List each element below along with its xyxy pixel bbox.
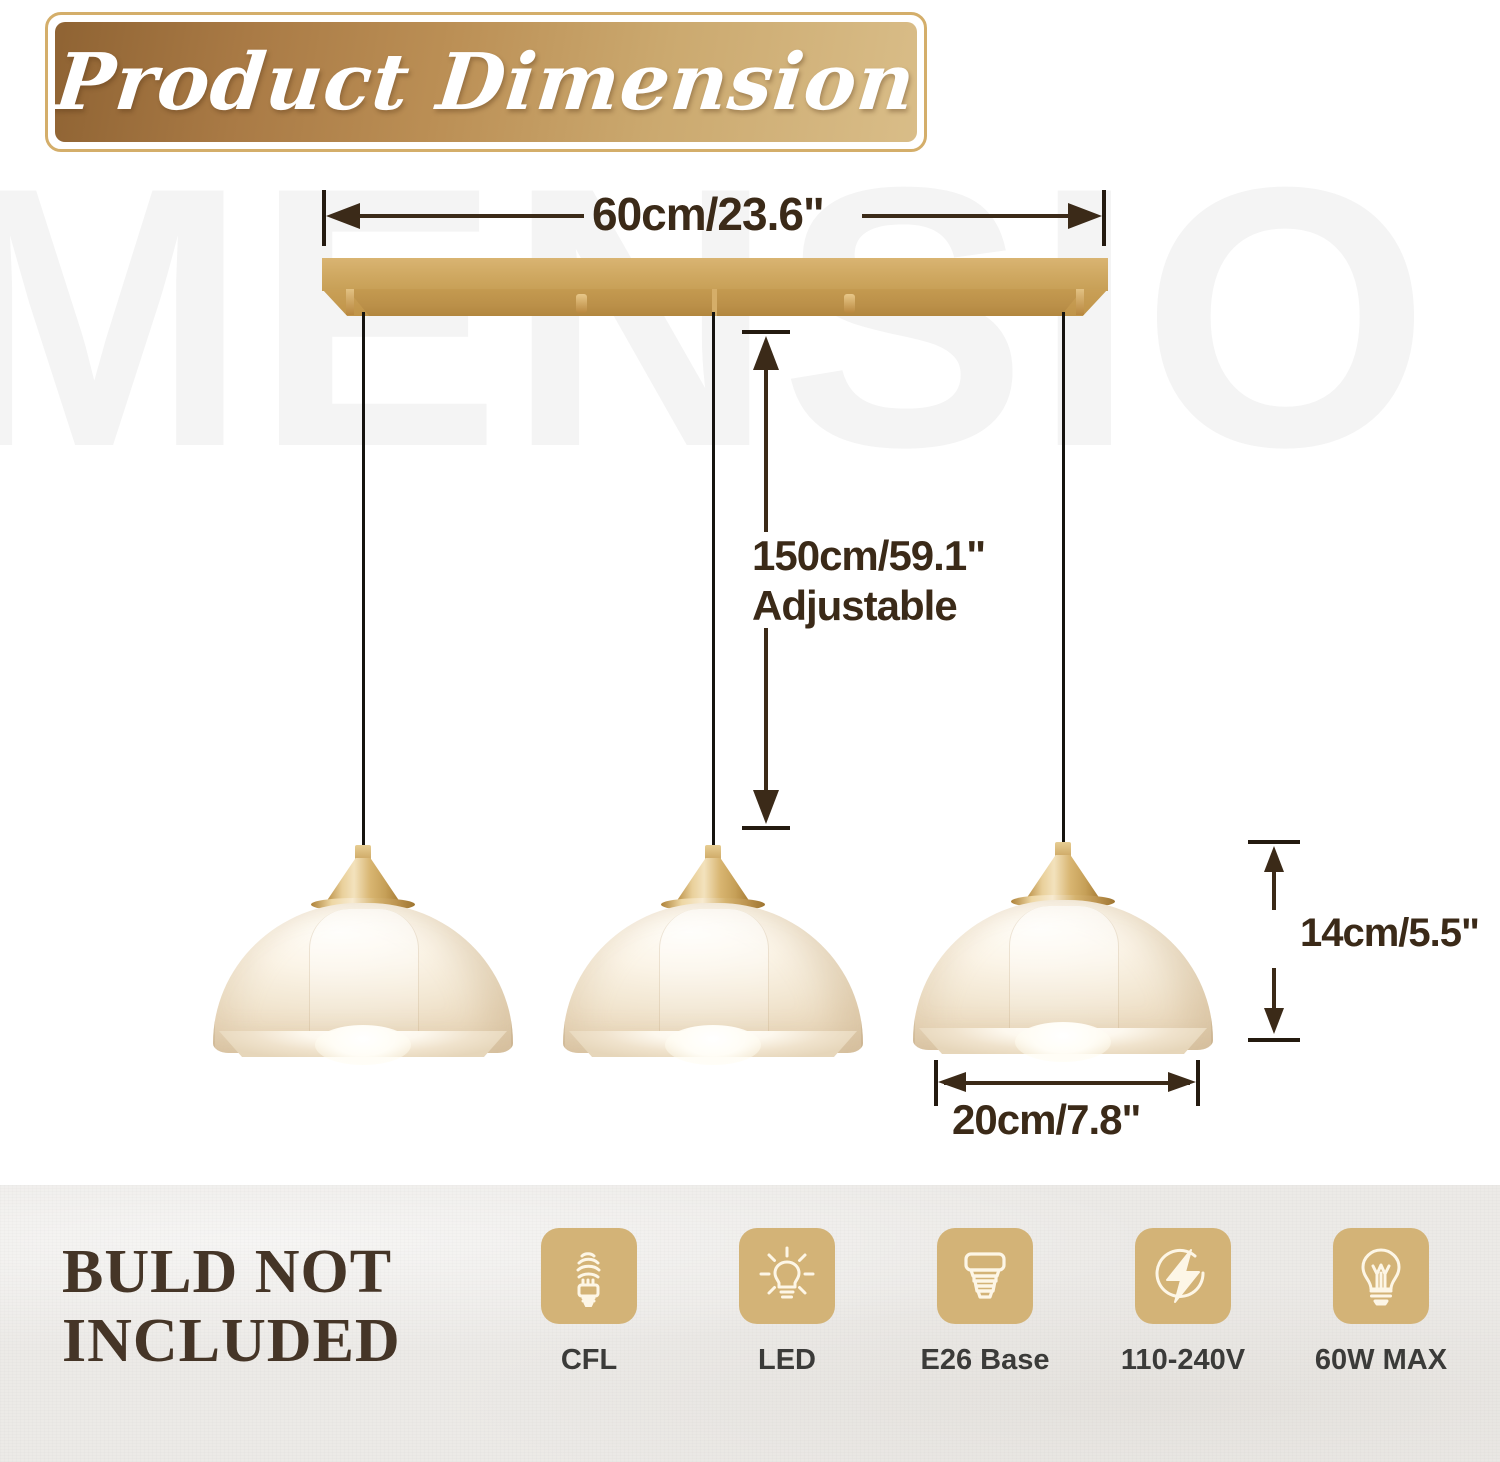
spec-item-wattage: 60W MAX [1282,1228,1480,1428]
title-banner-fill: Product Dimension [55,22,917,142]
canopy-screw-left [576,294,587,313]
canopy-end-clip-left [346,289,354,315]
shade-width-line [944,1081,1190,1085]
lamp-neck [1026,855,1100,899]
lamp-bulb-glow [1015,1022,1111,1062]
height-dim-tick-bottom [1248,1038,1300,1042]
shade-width-tick-right [1196,1060,1200,1106]
title-banner: Product Dimension [45,12,927,152]
height-dim-tick-top [1248,840,1300,844]
spec-label-cfl: CFL [561,1344,617,1377]
cord-right [1062,312,1065,857]
bulb-not-included-text: BULD NOT INCLUDED [62,1238,401,1377]
e26-base-icon [937,1228,1033,1324]
spec-item-cfl: CFL [490,1228,688,1428]
width-dim-line-right [862,214,1090,218]
page-title: Product Dimension [55,37,917,128]
cord-left [362,312,365,860]
spec-label-e26: E26 Base [921,1344,1050,1377]
lightning-bolt-icon [1135,1228,1231,1324]
shade-width-arrow-right [1168,1072,1196,1092]
height-dim-arrow-up [1264,846,1284,872]
cord-center [712,312,715,860]
drop-dim-tick-top [742,330,790,334]
canopy-bar [322,258,1108,316]
shade-width-arrow-left [938,1072,966,1092]
canopy-screw-right [844,294,855,313]
shade-height-label: 14cm/5.5" [1300,912,1479,954]
drop-dim-line-upper [764,348,768,532]
drop-dim-tick-bottom [742,826,790,830]
width-dim-tick-right [1102,190,1106,246]
spec-item-voltage: 110-240V [1084,1228,1282,1428]
drop-dim-line-lower [764,628,768,804]
spec-label-voltage: 110-240V [1121,1344,1245,1377]
background-watermark: MENSIO [0,105,1436,530]
canopy-end-clip-right [1076,289,1084,315]
spec-item-e26: E26 Base [886,1228,1084,1428]
cfl-bulb-icon [541,1228,637,1324]
spec-label-led: LED [758,1344,816,1377]
spec-label-wattage: 60W MAX [1315,1344,1447,1377]
shade-width-label: 20cm/7.8" [952,1098,1140,1143]
width-dim-arrow-right [1068,203,1102,229]
width-dim-line-left [334,214,584,218]
lamp-bulb-glow [315,1025,411,1065]
spec-item-led: LED [688,1228,886,1428]
lamp-bulb-glow [665,1025,761,1065]
height-dim-arrow-down [1264,1008,1284,1034]
drop-dim-arrow-down [753,790,779,824]
width-dim-arrow-left [326,203,360,229]
filament-bulb-icon [1333,1228,1429,1324]
drop-dimension-label-line1: 150cm/59.1" [752,534,985,579]
drop-dimension-label-line2: Adjustable [752,584,957,629]
product-dimension-infographic: MENSIO Product Dimension 60cm/23.6" [0,0,1500,1462]
canopy-top-face [322,258,1108,291]
lamp-neck [326,858,400,902]
drop-dim-arrow-up [753,336,779,370]
spec-icons-row: CFL LED [490,1228,1480,1428]
lamp-neck [676,858,750,902]
led-bulb-icon [739,1228,835,1324]
width-dimension-label: 60cm/23.6" [592,190,824,239]
